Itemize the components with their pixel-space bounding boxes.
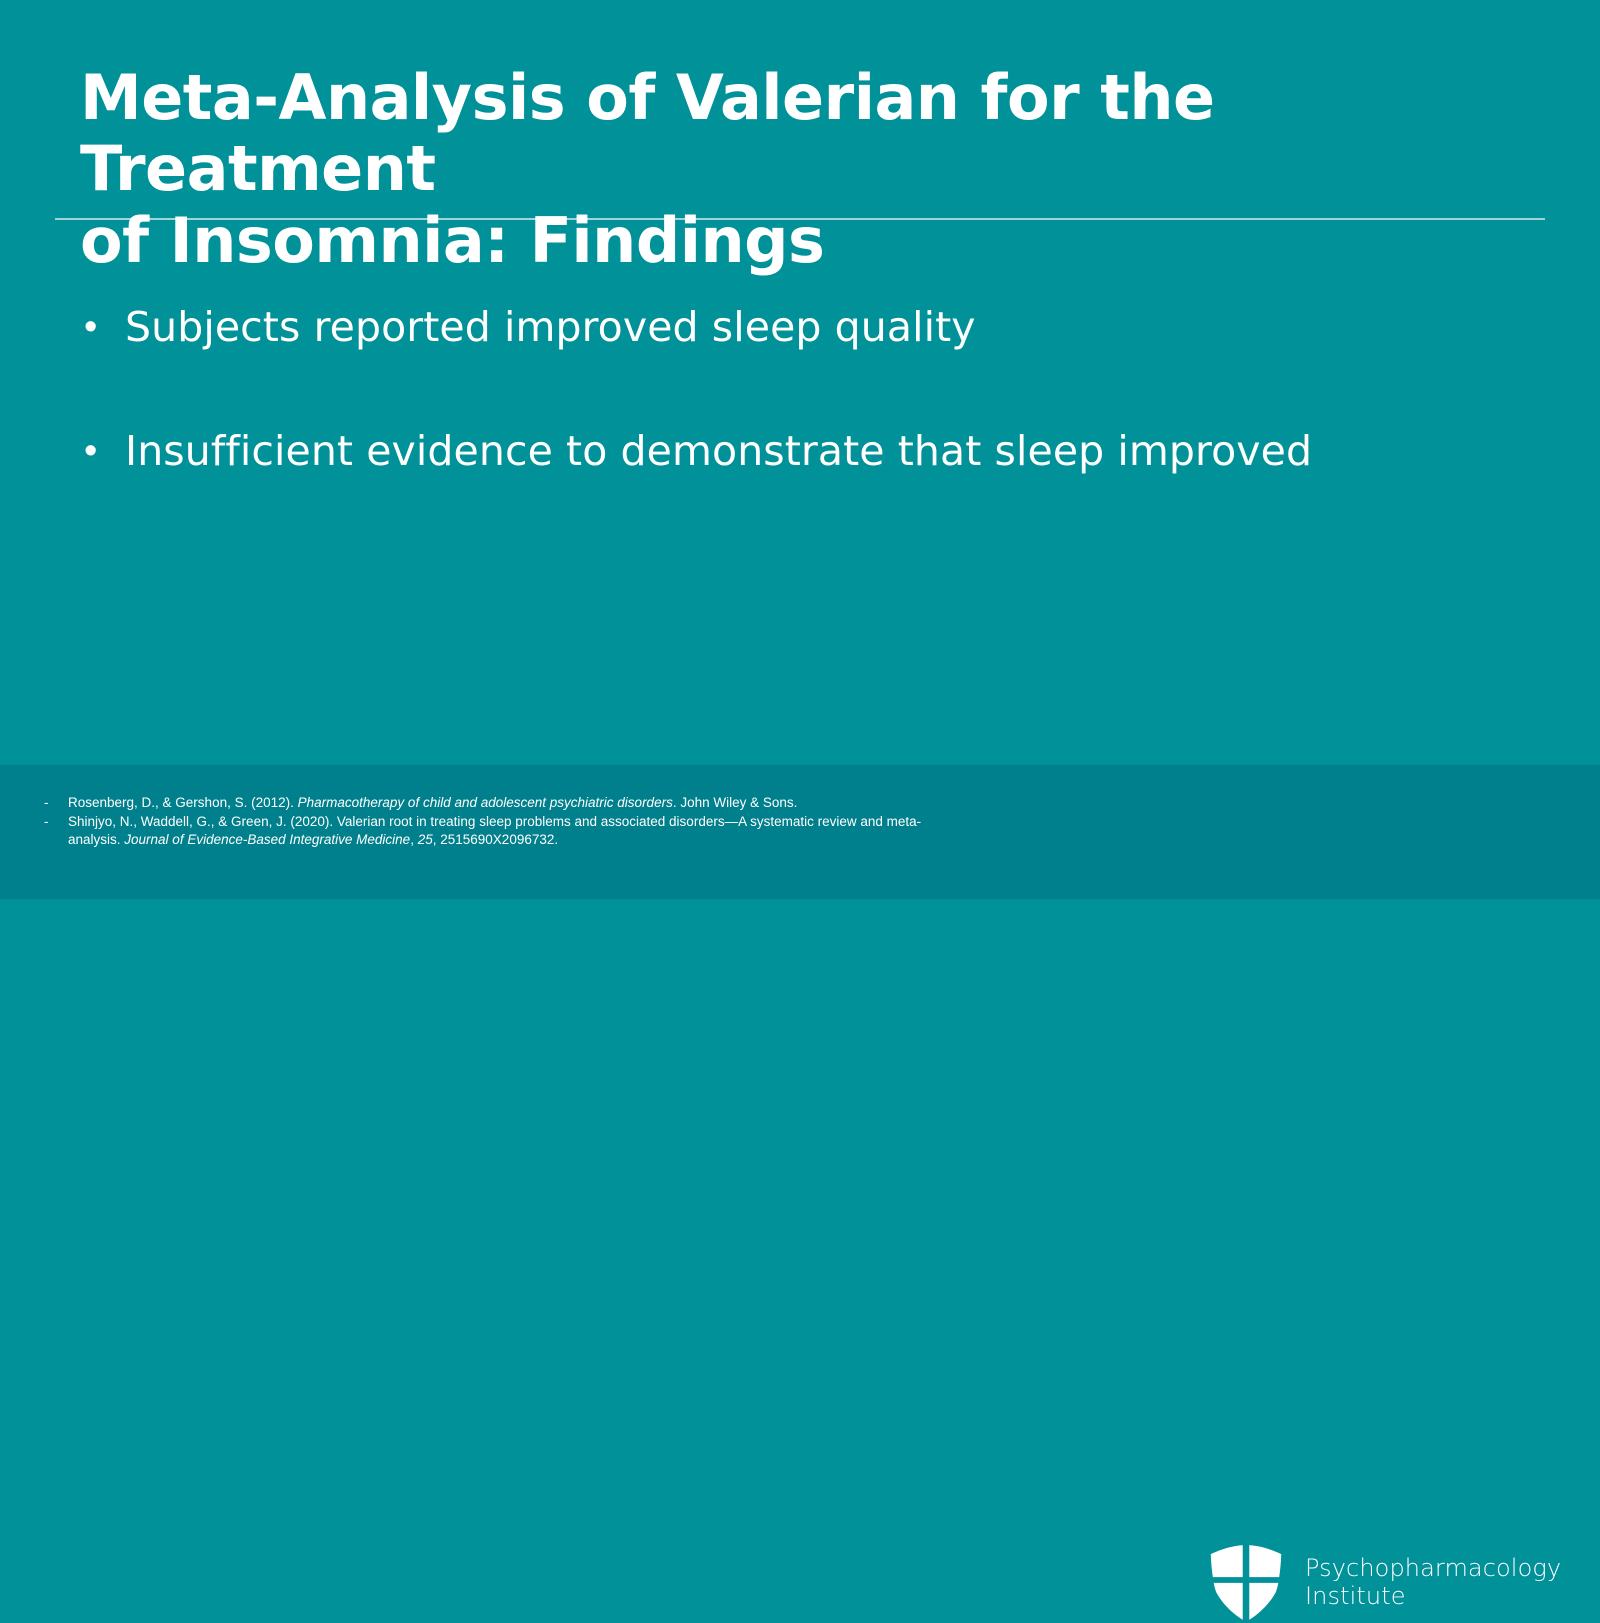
logo-line-2: Institute: [1305, 1582, 1561, 1610]
logo-line-1: Psychopharmacology: [1305, 1554, 1561, 1582]
citation-item: - Shinjyo, N., Waddell, G., & Green, J. …: [44, 813, 944, 850]
bullet-text: Subjects reported improved sleep quality: [125, 296, 1520, 358]
citation-dash-icon: -: [44, 794, 68, 813]
list-item: • Subjects reported improved sleep quali…: [80, 296, 1520, 358]
page-title: Meta-Analysis of Valerian for the Treatm…: [80, 62, 1260, 276]
citation-item: - Rosenberg, D., & Gershon, S. (2012). P…: [44, 794, 944, 813]
title-divider: [55, 218, 1545, 220]
citation-dash-icon: -: [44, 813, 68, 832]
logo-wordmark: Psychopharmacology Institute: [1305, 1554, 1561, 1610]
bullet-list: • Subjects reported improved sleep quali…: [80, 296, 1520, 544]
citation-text: Shinjyo, N., Waddell, G., & Green, J. (2…: [68, 813, 944, 850]
citation-list: - Rosenberg, D., & Gershon, S. (2012). P…: [44, 794, 944, 850]
citation-text: Rosenberg, D., & Gershon, S. (2012). Pha…: [68, 794, 944, 813]
footer-band: - Rosenberg, D., & Gershon, S. (2012). P…: [0, 765, 1600, 899]
bullet-point-icon: •: [80, 296, 125, 358]
title-block: Meta-Analysis of Valerian for the Treatm…: [80, 62, 1260, 276]
bullet-text: Insufficient evidence to demonstrate tha…: [125, 420, 1520, 482]
bullet-point-icon: •: [80, 420, 125, 482]
slide-canvas: Meta-Analysis of Valerian for the Treatm…: [0, 0, 1600, 899]
list-item: • Insufficient evidence to demonstrate t…: [80, 420, 1520, 482]
shield-cross-icon: [1205, 1541, 1287, 1623]
brand-logo: Psychopharmacology Institute: [1205, 1541, 1561, 1623]
